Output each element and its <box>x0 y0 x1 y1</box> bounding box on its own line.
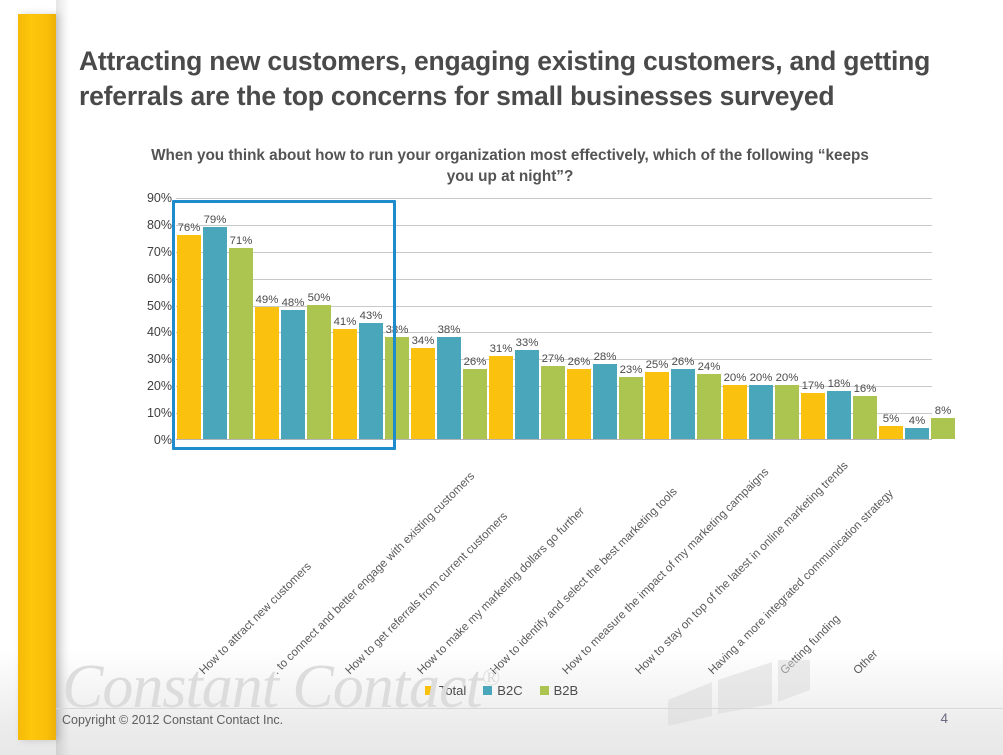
bar-group: 20%20%20% <box>722 198 800 439</box>
bar-value-label: 38% <box>438 324 461 336</box>
page-edge-shadow <box>56 0 70 755</box>
x-axis-category-label: Other <box>850 647 880 677</box>
bar-value-label: 17% <box>802 380 825 392</box>
bar-value-label: 20% <box>776 372 799 384</box>
bar-value-label: 25% <box>646 359 669 371</box>
bar-b2c <box>749 385 773 439</box>
watermark-text: Constant Contact <box>62 653 482 721</box>
bar-b2c <box>515 350 539 439</box>
bar-column: 4% <box>905 198 929 439</box>
bar-value-label: 28% <box>594 351 617 363</box>
bar-column: 5% <box>879 198 903 439</box>
bar-total <box>567 369 591 439</box>
bar-b2b <box>775 385 799 439</box>
bar-b2b <box>853 396 877 439</box>
bar-column: 25% <box>645 198 669 439</box>
left-accent-bar <box>18 14 56 740</box>
bar-b2c <box>827 391 851 439</box>
bar-column: 18% <box>827 198 851 439</box>
y-axis-tick-label: 90% <box>147 191 172 205</box>
bar-value-label: 24% <box>698 361 721 373</box>
bar-column: 8% <box>931 198 955 439</box>
bar-value-label: 23% <box>620 364 643 376</box>
y-axis-tick-label: 60% <box>147 272 172 286</box>
bar-value-label: 16% <box>854 383 877 395</box>
bar-b2c <box>593 364 617 439</box>
bar-value-label: 26% <box>464 356 487 368</box>
bar-value-label: 26% <box>672 356 695 368</box>
bar-column: 27% <box>541 198 565 439</box>
bar-column: 20% <box>749 198 773 439</box>
bar-value-label: 8% <box>935 405 951 417</box>
y-axis-tick-label: 30% <box>147 352 172 366</box>
bar-b2c <box>437 337 461 439</box>
slide: Attracting new customers, engaging exist… <box>0 0 1003 755</box>
registered-mark: ® <box>482 665 499 691</box>
bar-value-label: 4% <box>909 415 925 427</box>
bar-value-label: 33% <box>516 337 539 349</box>
page-title: Attracting new customers, engaging exist… <box>79 44 969 114</box>
bar-value-label: 20% <box>750 372 773 384</box>
bar-group: 34%38%26% <box>410 198 488 439</box>
bar-column: 23% <box>619 198 643 439</box>
bar-b2b <box>697 374 721 439</box>
bar-column: 26% <box>671 198 695 439</box>
bar-column: 24% <box>697 198 721 439</box>
bar-b2c <box>671 369 695 439</box>
bar-b2b <box>619 377 643 439</box>
bar-column: 26% <box>567 198 591 439</box>
x-axis-category-labels: How to attract new customers. to connect… <box>176 447 902 677</box>
bar-total <box>645 372 669 439</box>
bar-value-label: 20% <box>724 372 747 384</box>
bar-total <box>411 348 435 439</box>
footer-divider <box>56 708 1003 709</box>
bar-value-label: 27% <box>542 353 565 365</box>
copyright-text: Copyright © 2012 Constant Contact Inc. <box>62 713 283 727</box>
bar-b2b <box>463 369 487 439</box>
bar-column: 16% <box>853 198 877 439</box>
bar-group: 31%33%27% <box>488 198 566 439</box>
y-axis-tick-label: 20% <box>147 379 172 393</box>
bar-column: 31% <box>489 198 513 439</box>
bar-total <box>489 356 513 439</box>
bar-total <box>801 393 825 439</box>
y-axis-tick-label: 10% <box>147 406 172 420</box>
bar-column: 20% <box>723 198 747 439</box>
highlight-rectangle <box>172 200 396 450</box>
bar-group: 25%26%24% <box>644 198 722 439</box>
bar-b2b <box>931 418 955 440</box>
bar-value-label: 31% <box>490 343 513 355</box>
y-axis-tick-label: 80% <box>147 218 172 232</box>
bar-total <box>879 426 903 439</box>
bar-value-label: 18% <box>828 378 851 390</box>
y-axis-tick-label: 0% <box>154 433 172 447</box>
bar-column: 20% <box>775 198 799 439</box>
bar-b2c <box>905 428 929 439</box>
bar-column: 26% <box>463 198 487 439</box>
y-axis-tick-label: 50% <box>147 299 172 313</box>
y-axis: 0%10%20%30%40%50%60%70%80%90% <box>132 198 172 440</box>
bar-column: 38% <box>437 198 461 439</box>
windows-flag-watermark <box>660 660 810 730</box>
bar-total <box>723 385 747 439</box>
bar-group: 26%28%23% <box>566 198 644 439</box>
chart-title: When you think about how to run your org… <box>150 145 870 188</box>
bar-group: 5%4%8% <box>878 198 956 439</box>
bar-group: 17%18%16% <box>800 198 878 439</box>
y-axis-tick-label: 40% <box>147 325 172 339</box>
y-axis-tick-label: 70% <box>147 245 172 259</box>
bar-column: 17% <box>801 198 825 439</box>
bar-column: 34% <box>411 198 435 439</box>
bar-column: 33% <box>515 198 539 439</box>
bar-b2b <box>541 366 565 439</box>
bar-column: 28% <box>593 198 617 439</box>
bar-value-label: 5% <box>883 413 899 425</box>
bar-value-label: 26% <box>568 356 591 368</box>
bar-value-label: 34% <box>412 335 435 347</box>
page-number: 4 <box>940 711 948 726</box>
